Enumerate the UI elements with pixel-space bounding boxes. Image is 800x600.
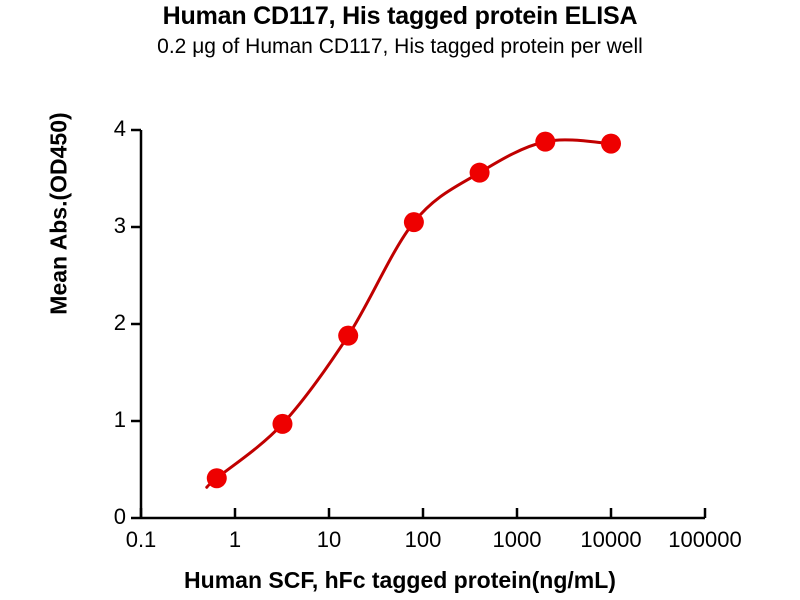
x-tick-label-6: 100000 bbox=[665, 527, 745, 553]
x-tick-label-3: 100 bbox=[383, 527, 463, 553]
data-point bbox=[470, 163, 490, 183]
data-markers bbox=[207, 132, 621, 489]
data-point bbox=[601, 134, 621, 154]
fit-curve bbox=[207, 140, 611, 487]
y-tick-label-0: 0 bbox=[96, 504, 126, 530]
x-tick-label-1: 1 bbox=[195, 527, 275, 553]
x-tick-label-2: 10 bbox=[289, 527, 369, 553]
elisa-chart-figure: Human CD117, His tagged protein ELISA 0.… bbox=[0, 0, 800, 600]
y-tick-label-3: 3 bbox=[96, 213, 126, 239]
data-point bbox=[272, 414, 292, 434]
data-point bbox=[404, 212, 424, 232]
y-tick-label-1: 1 bbox=[96, 407, 126, 433]
x-tick-label-4: 1000 bbox=[477, 527, 557, 553]
data-point bbox=[207, 468, 227, 488]
y-tick-label-2: 2 bbox=[96, 310, 126, 336]
x-axis-label: Human SCF, hFc tagged protein(ng/mL) bbox=[0, 567, 800, 594]
data-series bbox=[207, 132, 621, 489]
data-point bbox=[338, 326, 358, 346]
y-axis-label: Mean Abs.(OD450) bbox=[46, 89, 73, 339]
x-tick-label-5: 10000 bbox=[571, 527, 651, 553]
data-point bbox=[535, 132, 555, 152]
y-tick-label-4: 4 bbox=[96, 116, 126, 142]
axes bbox=[131, 130, 705, 518]
x-tick-label-0: 0.1 bbox=[101, 527, 181, 553]
